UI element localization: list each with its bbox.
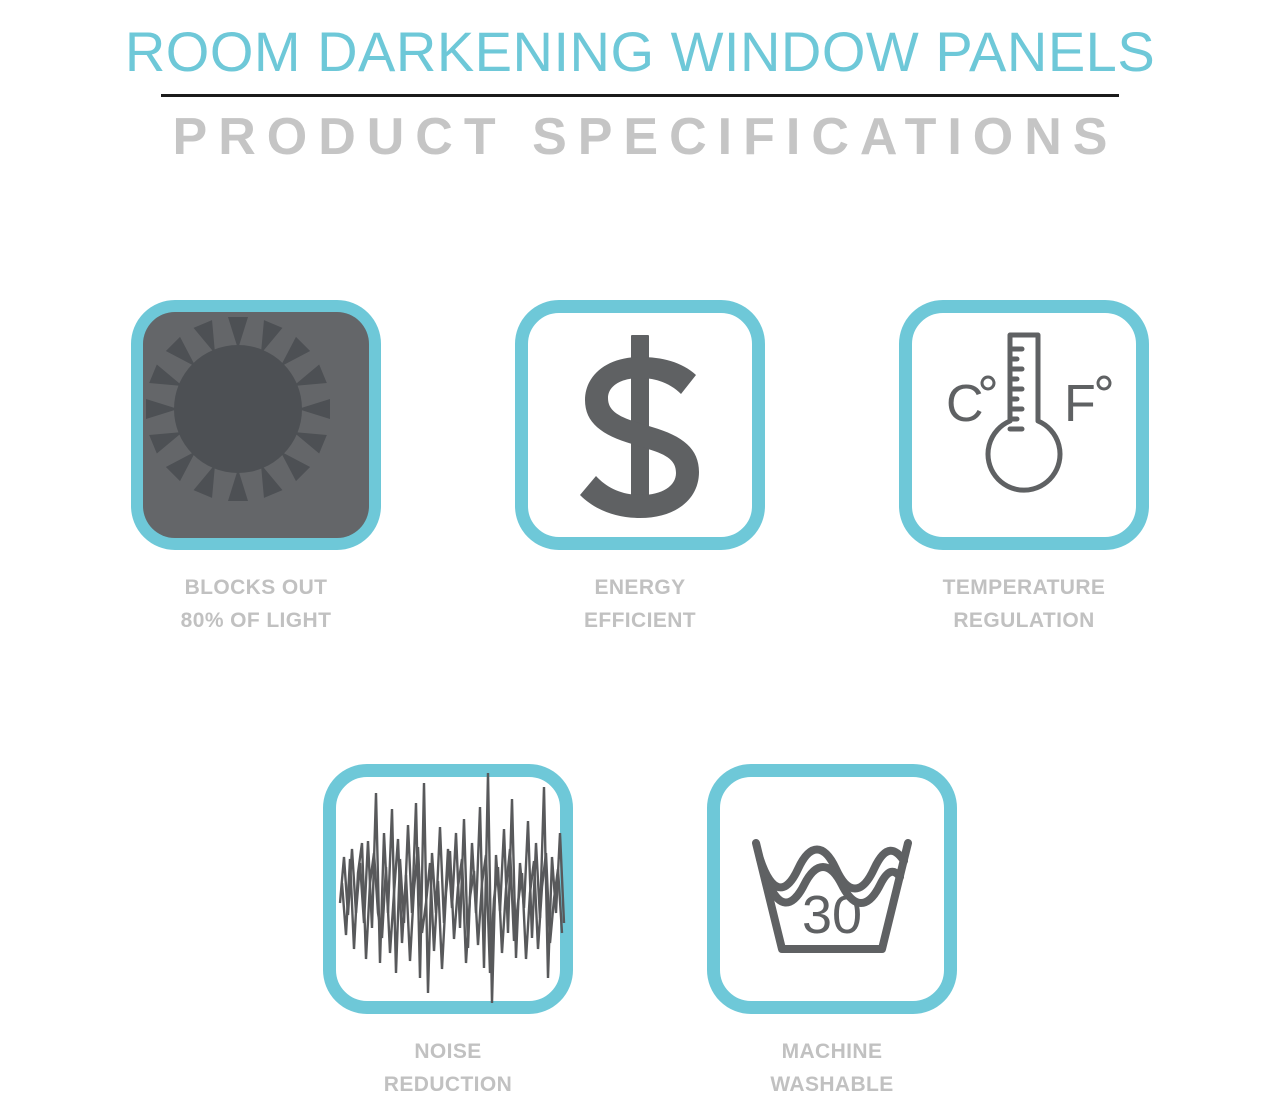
feature-card-temperature[interactable]: C F TEMPERATURE REGULATION <box>899 300 1149 637</box>
feature-row-bottom: NOISE REDUCTION <box>0 764 1280 1101</box>
feature-card-machine-washable[interactable]: 30 MACHINE WASHABLE <box>707 764 957 1101</box>
caption-line-2: REGULATION <box>943 605 1106 638</box>
dollar-sign-icon <box>528 313 752 537</box>
wash-tub-icon: 30 <box>720 777 944 1001</box>
feature-caption: ENERGY EFFICIENT <box>584 572 696 637</box>
icon-frame-noise-reduction <box>323 764 573 1014</box>
caption-line-2: 80% OF LIGHT <box>181 605 332 638</box>
feature-caption: BLOCKS OUT 80% OF LIGHT <box>181 572 332 637</box>
icon-frame-energy-efficient <box>515 300 765 550</box>
page-subtitle: PRODUCT SPECIFICATIONS <box>0 111 1280 163</box>
caption-line-1: ENERGY <box>584 572 696 605</box>
svg-text:F: F <box>1064 375 1096 433</box>
svg-text:C: C <box>946 375 984 433</box>
caption-line-1: NOISE <box>384 1036 512 1069</box>
caption-line-2: REDUCTION <box>384 1069 512 1101</box>
feature-card-energy-efficient[interactable]: ENERGY EFFICIENT <box>515 300 765 637</box>
caption-line-1: TEMPERATURE <box>943 572 1106 605</box>
feature-caption: NOISE REDUCTION <box>384 1036 512 1101</box>
icon-frame-temperature: C F <box>899 300 1149 550</box>
blackout-sun-icon <box>144 313 368 537</box>
feature-card-noise-reduction[interactable]: NOISE REDUCTION <box>323 764 573 1101</box>
feature-caption: TEMPERATURE REGULATION <box>943 572 1106 637</box>
wash-temperature-label: 30 <box>802 885 862 945</box>
sound-wave-icon <box>336 777 560 1001</box>
feature-card-blocks-light[interactable]: BLOCKS OUT 80% OF LIGHT <box>131 300 381 637</box>
feature-caption: MACHINE WASHABLE <box>770 1036 893 1101</box>
icon-frame-blocks-light <box>131 300 381 550</box>
title-divider <box>161 94 1119 97</box>
caption-line-2: WASHABLE <box>770 1069 893 1101</box>
feature-grid: BLOCKS OUT 80% OF LIGHT ENERGY EFFIC <box>0 300 1280 1101</box>
caption-line-1: MACHINE <box>770 1036 893 1069</box>
page-title: ROOM DARKENING WINDOW PANELS <box>0 24 1280 80</box>
caption-line-1: BLOCKS OUT <box>181 572 332 605</box>
icon-frame-machine-washable: 30 <box>707 764 957 1014</box>
thermometer-icon: C F <box>912 313 1136 537</box>
caption-line-2: EFFICIENT <box>584 605 696 638</box>
feature-row-top: BLOCKS OUT 80% OF LIGHT ENERGY EFFIC <box>0 300 1280 637</box>
page-header: ROOM DARKENING WINDOW PANELS PRODUCT SPE… <box>0 0 1280 163</box>
